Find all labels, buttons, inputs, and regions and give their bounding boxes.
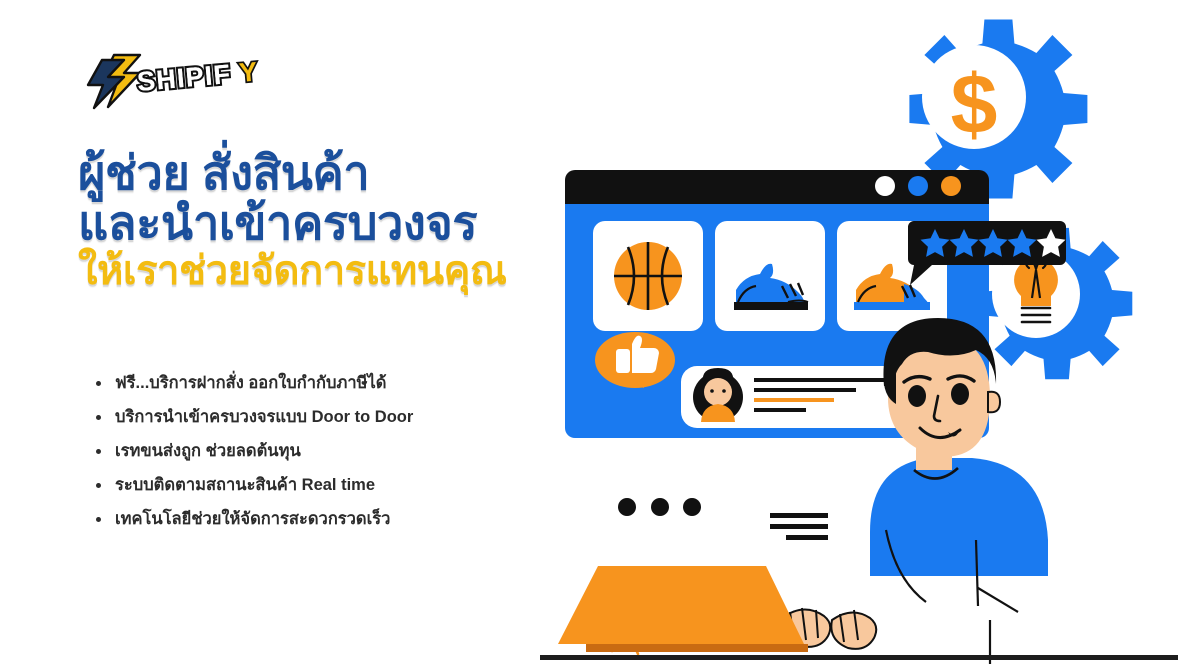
- product-card-sneaker-blue[interactable]: [715, 221, 825, 331]
- headline-line-1: ผู้ช่วย สั่งสินค้า: [78, 148, 548, 198]
- laptop-screen: [558, 566, 804, 644]
- bullet-dot-icon: [96, 517, 101, 522]
- product-card-basketball[interactable]: [593, 221, 703, 331]
- bullet-dot-icon: [96, 381, 101, 386]
- laptop-base: [586, 644, 808, 652]
- list-item: บริการนำเข้าครบวงจรแบบ Door to Door: [96, 406, 526, 428]
- illustration-canvas: $: [540, 0, 1178, 664]
- left-content-column: SHIPIF SHIPIF Y ผู้ช่วย สั่งสินค้า และนำ…: [0, 0, 560, 664]
- decor-dots: [618, 498, 701, 516]
- review-line-3-highlight: [754, 398, 834, 402]
- review-line-1: [754, 378, 896, 382]
- hero-illustration: $: [540, 0, 1178, 664]
- bullet-dot-icon: [96, 449, 101, 454]
- desk-line: [540, 655, 1178, 660]
- thumbs-up-bubble: [595, 332, 675, 388]
- laptop: [558, 566, 808, 652]
- headline: ผู้ช่วย สั่งสินค้า และนำเข้าครบวงจร ให้เ…: [78, 148, 548, 294]
- svg-text:SHIPIF: SHIPIF: [136, 60, 232, 97]
- logo-wordmark: SHIPIF SHIPIF Y: [136, 60, 276, 102]
- decor-lines: [770, 513, 828, 540]
- dot-white-icon[interactable]: [875, 176, 895, 196]
- review-line-2: [754, 388, 856, 392]
- list-item: ระบบติดตามสถานะสินค้า Real time: [96, 474, 526, 496]
- list-item: เทคโนโลยีช่วยให้จัดการสะดวกรวดเร็ว: [96, 508, 526, 530]
- dot-orange-icon[interactable]: [941, 176, 961, 196]
- headline-line-3: ให้เราช่วยจัดการแทนคุณ: [78, 248, 548, 294]
- person-shirt: [870, 458, 1048, 576]
- review-card: [681, 366, 913, 428]
- bullet-dot-icon: [96, 415, 101, 420]
- list-item-label: เทคโนโลยีช่วยให้จัดการสะดวกรวดเร็ว: [115, 508, 390, 530]
- list-item-label: ระบบติดตามสถานะสินค้า Real time: [115, 474, 375, 496]
- list-item-label: ฟรี...บริการฝากสั่ง ออกใบกำกับภาษีได้: [115, 372, 386, 394]
- review-line-4: [754, 408, 806, 412]
- feature-list: ฟรี...บริการฝากสั่ง ออกใบกำกับภาษีได้ บร…: [96, 372, 526, 542]
- poster-root: SHIPIF SHIPIF Y ผู้ช่วย สั่งสินค้า และนำ…: [0, 0, 1178, 664]
- headline-line-2: และนำเข้าครบวงจร: [78, 198, 548, 248]
- list-item-label: บริการนำเข้าครบวงจรแบบ Door to Door: [115, 406, 413, 428]
- list-item: เรทขนส่งถูก ช่วยลดต้นทุน: [96, 440, 526, 462]
- brand-logo[interactable]: SHIPIF SHIPIF Y: [84, 52, 274, 110]
- basketball-icon: [614, 242, 682, 310]
- dollar-icon: $: [951, 57, 998, 151]
- list-item-label: เรทขนส่งถูก ช่วยลดต้นทุน: [115, 440, 301, 462]
- bullet-dot-icon: [96, 483, 101, 488]
- dot-blue-icon[interactable]: [908, 176, 928, 196]
- list-item: ฟรี...บริการฝากสั่ง ออกใบกำกับภาษีได้: [96, 372, 526, 394]
- svg-text:Y: Y: [238, 60, 259, 88]
